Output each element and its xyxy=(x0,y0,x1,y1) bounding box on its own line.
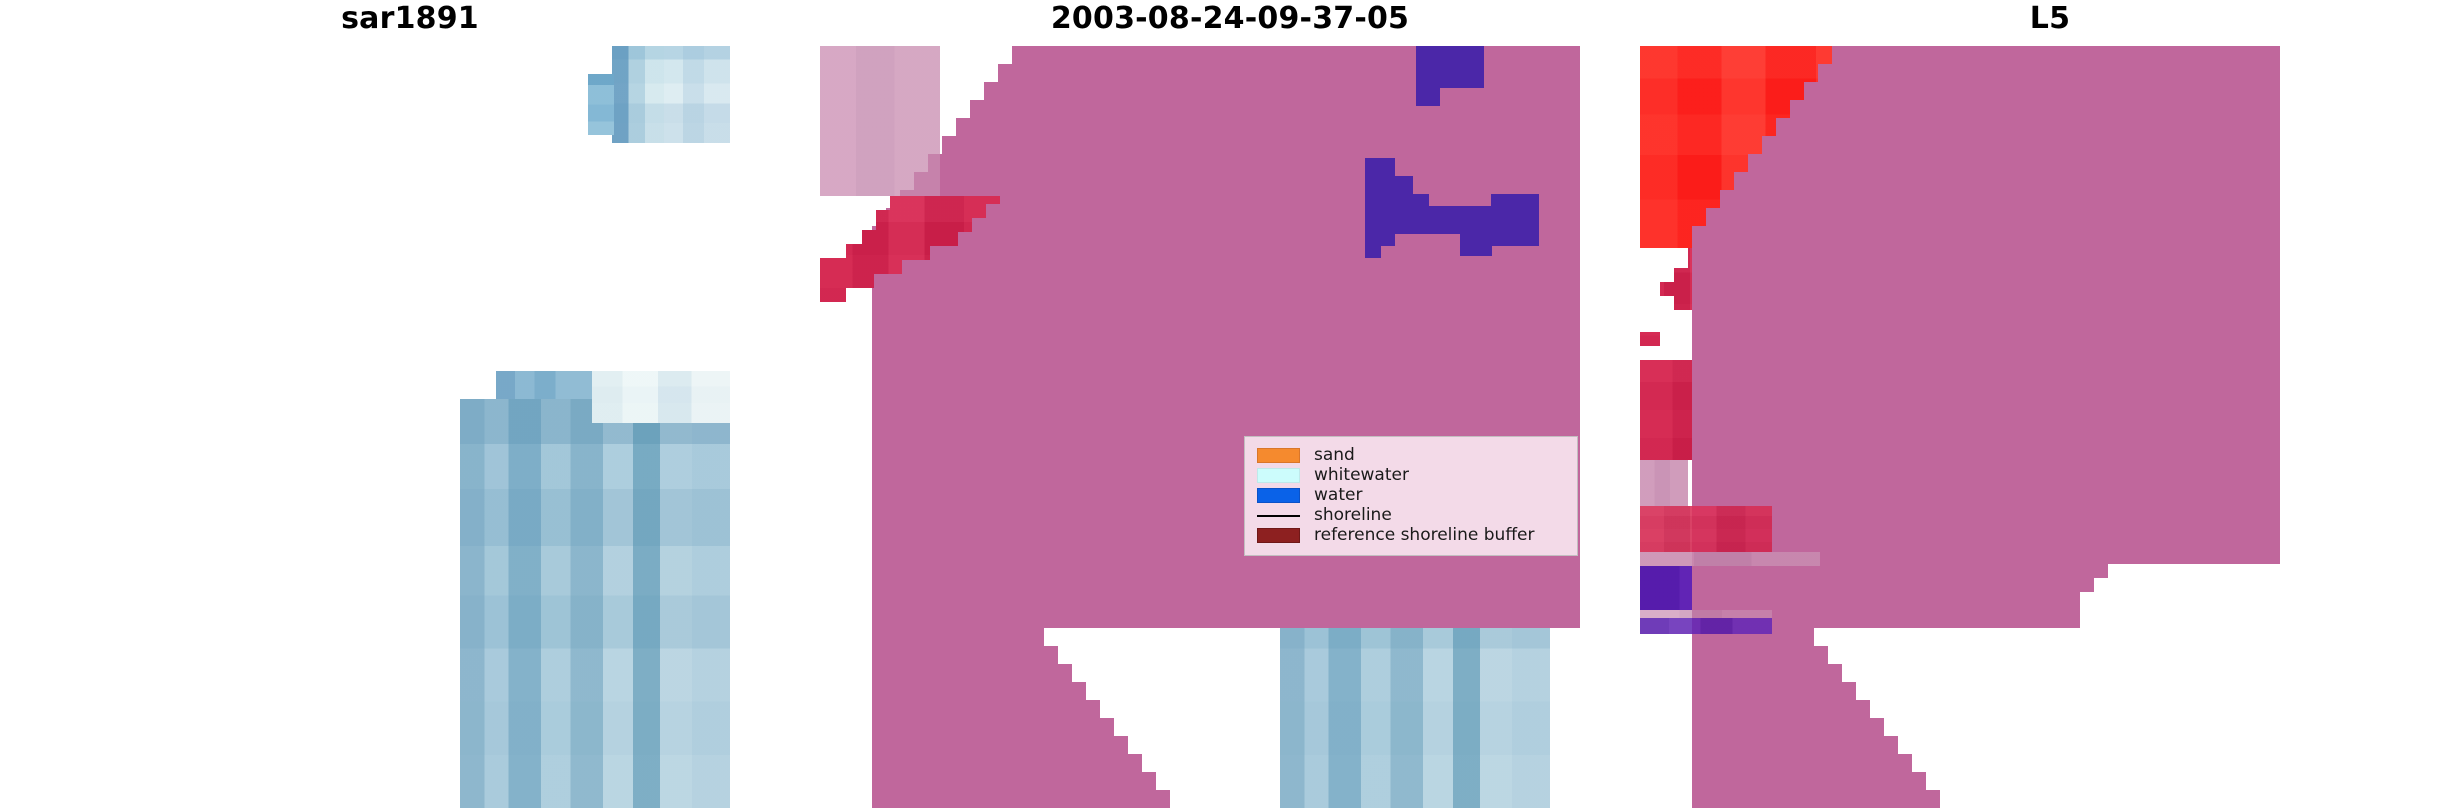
l5-reference-buffer-overlay xyxy=(1640,46,2460,808)
water-class-block-2 xyxy=(1416,88,1440,106)
l5-violet-lower xyxy=(1640,618,1772,634)
sar-bottom-patch xyxy=(460,399,730,808)
legend-label-shoreline: shoreline xyxy=(1314,505,1392,525)
water-class-block-9 xyxy=(1460,224,1492,256)
legend-item-whitewater[interactable]: whitewater xyxy=(1257,465,1567,485)
panel-l5-composite xyxy=(1640,46,2460,808)
sar-top-patch xyxy=(612,46,730,143)
water-class-block-8 xyxy=(1365,234,1381,258)
water-class-block-1 xyxy=(1416,46,1484,88)
water-class-block-7 xyxy=(1491,194,1539,246)
buffer-light-region xyxy=(820,46,940,196)
l5-pink-seam xyxy=(1640,552,1820,566)
whitewater-swatch-icon xyxy=(1257,468,1300,483)
sar-bottom-right-block xyxy=(592,371,730,423)
legend-label-whitewater: whitewater xyxy=(1314,465,1409,485)
panel-title-date: 2003-08-24-09-37-05 xyxy=(820,2,1640,36)
sand-swatch-icon xyxy=(1257,448,1300,463)
l5-light-band-top xyxy=(1640,460,1688,506)
reference-buffer-swatch-icon xyxy=(1257,528,1300,543)
sar-bottom-upper-block xyxy=(496,371,592,399)
legend-item-sand[interactable]: sand xyxy=(1257,445,1567,465)
sar-top-left-strip xyxy=(588,74,614,135)
panel-title-l5: L5 xyxy=(1640,2,2460,36)
panel-sar-image xyxy=(0,46,820,808)
water-swatch-icon xyxy=(1257,488,1300,503)
l5-violet-seam xyxy=(1640,610,1772,618)
legend-item-shoreline[interactable]: shoreline xyxy=(1257,505,1567,525)
figure-canvas: sar1891 2003-08-24-09-37-05 L5 xyxy=(0,0,2460,808)
l5-crimson-band-top-2 xyxy=(1640,506,1772,552)
panel-title-sar: sar1891 xyxy=(0,2,820,36)
water-class-block-3 xyxy=(1365,158,1395,246)
legend-item-reference-buffer[interactable]: reference shoreline buffer xyxy=(1257,525,1567,545)
shoreline-line-icon xyxy=(1257,508,1300,523)
legend-label-reference-buffer: reference shoreline buffer xyxy=(1314,525,1535,545)
legend-label-water: water xyxy=(1314,485,1362,505)
legend-item-water[interactable]: water xyxy=(1257,485,1567,505)
legend: sand whitewater water shoreline referenc… xyxy=(1244,436,1578,556)
panel-classification-mask xyxy=(820,46,1640,808)
legend-label-sand: sand xyxy=(1314,445,1355,465)
